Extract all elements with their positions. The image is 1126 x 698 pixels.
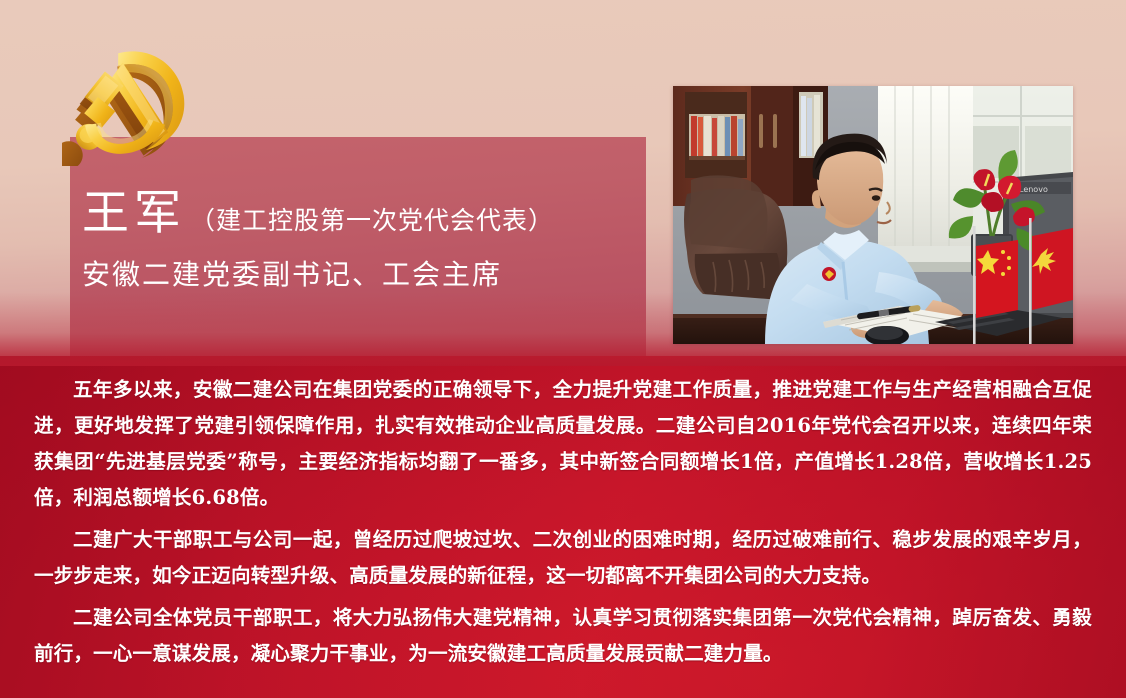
nameplate-text-group: 王军 （建工控股第一次党代会代表） 安徽二建党委副书记、工会主席 — [82, 189, 636, 293]
party-representative-poster: 王军 （建工控股第一次党代会代表） 安徽二建党委副书记、工会主席 — [0, 0, 1126, 698]
nameplate-panel: 王军 （建工控股第一次党代会代表） 安徽二建党委副书记、工会主席 — [70, 137, 646, 356]
cpc-party-emblem-icon — [62, 38, 197, 166]
article-paragraph-2: 二建广大干部职工与公司一起，曾经历过爬坡过坎、二次创业的困难时期，经历过破难前行… — [34, 522, 1092, 594]
nameplate-name-line: 王军 （建工控股第一次党代会代表） — [82, 189, 636, 238]
article-paragraph-1: 五年多以来，安徽二建公司在集团党委的正确领导下，全力提升党建工作质量，推进党建工… — [34, 372, 1092, 516]
person-job-title: 安徽二建党委副书记、工会主席 — [82, 253, 636, 293]
article-body: 五年多以来，安徽二建公司在集团党委的正确领导下，全力提升党建工作质量，推进党建工… — [34, 372, 1092, 672]
person-role-parenthetical: （建工控股第一次党代会代表） — [190, 201, 554, 237]
representative-photo: Lenovo — [673, 86, 1073, 344]
person-name: 王军 — [82, 189, 186, 238]
article-paragraph-3: 二建公司全体党员干部职工，将大力弘扬伟大建党精神，认真学习贯彻落实集团第一次党代… — [34, 600, 1092, 672]
svg-text:Lenovo: Lenovo — [1019, 185, 1048, 194]
